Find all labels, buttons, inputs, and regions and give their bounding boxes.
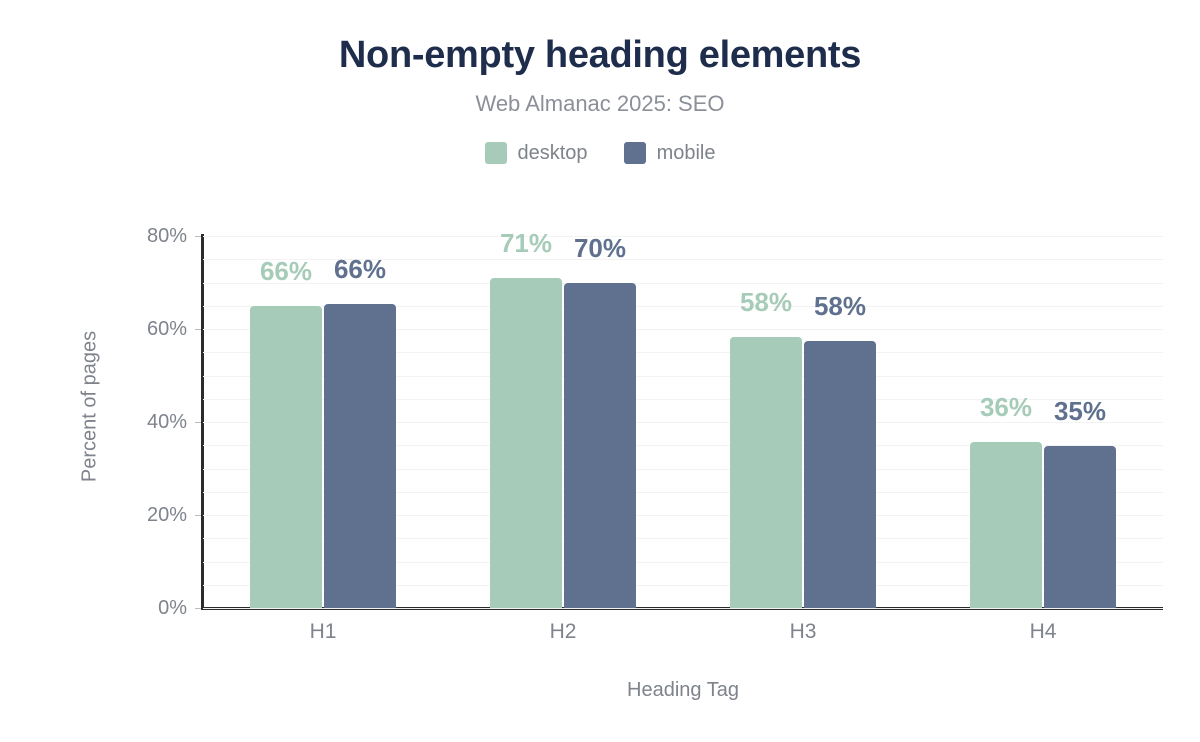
legend-item-mobile[interactable]: mobile <box>624 142 716 164</box>
chart-subtitle: Web Almanac 2025: SEO <box>0 90 1200 118</box>
x-tick-label-H4: H4 <box>963 620 1123 644</box>
y-tick-label: 40% <box>107 412 187 432</box>
bar-value-desktop-H3: 58% <box>733 289 799 315</box>
bar-value-mobile-H1: 66% <box>327 256 393 282</box>
gridline <box>203 608 1163 609</box>
bar-desktop-H1[interactable] <box>250 306 322 608</box>
bar-value-desktop-H1: 66% <box>253 258 319 284</box>
x-axis-title: Heading Tag <box>203 678 1163 702</box>
y-tick-label: 60% <box>107 319 187 339</box>
bar-value-desktop-H4: 36% <box>973 394 1039 420</box>
gridline <box>203 236 1163 237</box>
bar-chart: Non-empty heading elements Web Almanac 2… <box>0 0 1200 742</box>
x-tick-label-H3: H3 <box>723 620 883 644</box>
bar-mobile-H1[interactable] <box>324 304 396 608</box>
bar-mobile-H3[interactable] <box>804 341 876 608</box>
y-tick-mark <box>195 236 201 237</box>
bar-mobile-H2[interactable] <box>564 283 636 609</box>
chart-legend: desktop mobile <box>0 142 1200 164</box>
x-tick-label-H2: H2 <box>483 620 643 644</box>
bar-value-desktop-H2: 71% <box>493 230 559 256</box>
bar-desktop-H4[interactable] <box>970 442 1042 608</box>
legend-label-mobile: mobile <box>657 142 716 164</box>
bar-value-mobile-H2: 70% <box>567 235 633 261</box>
y-tick-mark <box>195 329 201 330</box>
y-tick-mark <box>195 515 201 516</box>
plot-area: 66%66%71%70%58%58%36%35% <box>203 236 1163 608</box>
y-tick-label: 80% <box>107 226 187 246</box>
y-tick-label: 0% <box>107 598 187 618</box>
bar-value-mobile-H3: 58% <box>807 293 873 319</box>
legend-swatch-mobile <box>624 142 646 164</box>
bar-value-mobile-H4: 35% <box>1047 398 1113 424</box>
legend-label-desktop: desktop <box>518 142 588 164</box>
chart-title: Non-empty heading elements <box>0 32 1200 78</box>
y-tick-mark <box>195 422 201 423</box>
x-tick-label-H1: H1 <box>243 620 403 644</box>
y-tick-mark <box>195 608 201 609</box>
legend-swatch-desktop <box>485 142 507 164</box>
bar-desktop-H2[interactable] <box>490 278 562 608</box>
y-tick-label: 20% <box>107 505 187 525</box>
bar-mobile-H4[interactable] <box>1044 446 1116 608</box>
legend-item-desktop[interactable]: desktop <box>485 142 588 164</box>
bar-desktop-H3[interactable] <box>730 337 802 608</box>
y-axis-title: Percent of pages <box>79 297 102 517</box>
